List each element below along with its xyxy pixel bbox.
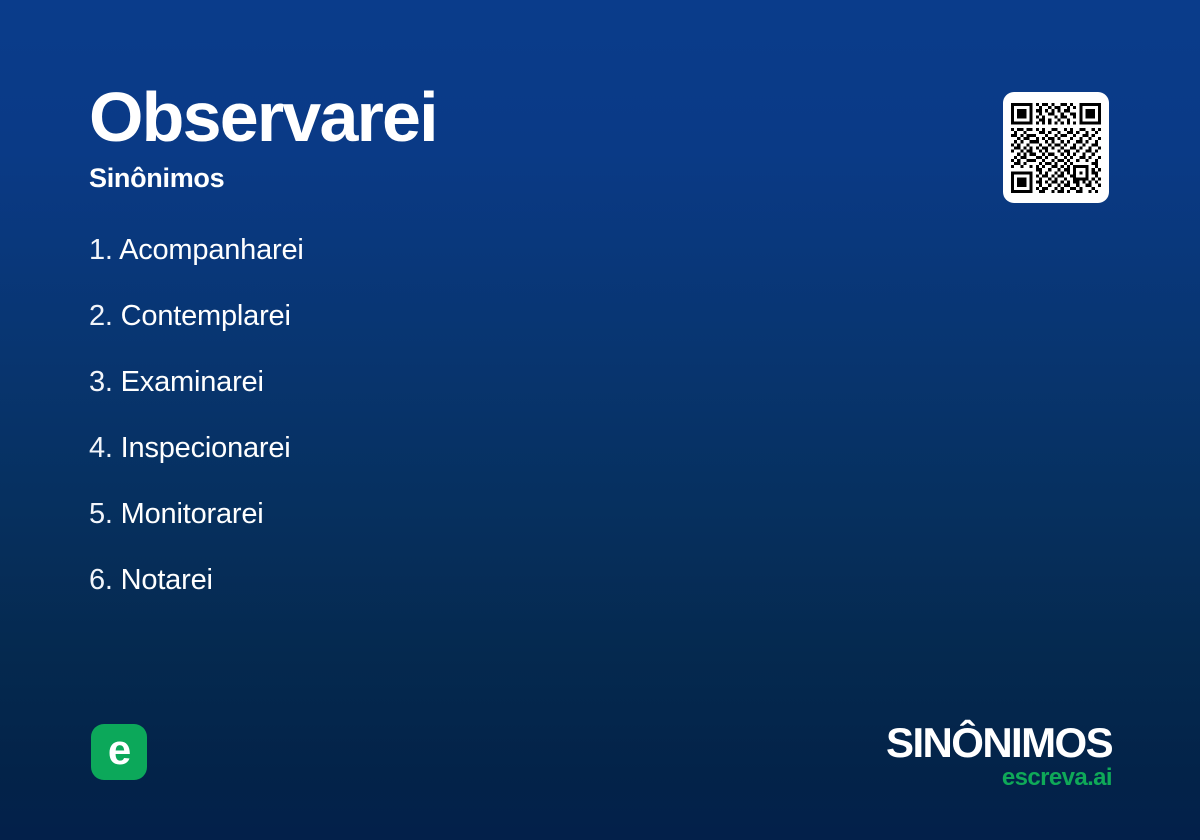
qr-code-panel[interactable] [1003,92,1109,203]
list-item: 2. Contemplarei [89,302,849,331]
list-item: 5. Monitorarei [89,500,849,529]
list-item: 6. Notarei [89,566,849,595]
synonym-card: Observarei Sinônimos [0,0,1200,840]
list-item-word: Monitorarei [121,498,264,530]
list-item: 1. Acompanharei [89,236,849,265]
list-item: 4. Inspecionarei [89,434,849,463]
synonym-list: 1. Acompanharei 2. Contemplarei 3. Exami… [89,236,849,595]
list-item-word: Acompanharei [119,234,304,266]
list-item-word: Notarei [121,564,213,596]
escreva-e-icon: e [91,724,147,780]
brand-logo-secondary: escreva.ai [886,764,1112,790]
title-block: Observarei Sinônimos [89,82,437,192]
list-item-word: Contemplarei [121,300,291,332]
list-item-index: 4. [89,432,113,464]
list-item-index: 6. [89,564,113,596]
brand-logo: SINÔNIMOS escreva.ai [886,722,1112,790]
list-item-word: Examinarei [121,366,264,398]
list-item-index: 5. [89,498,113,530]
list-item: 3. Examinarei [89,368,849,397]
brand-badge-letter: e [108,729,130,771]
list-item-index: 2. [89,300,113,332]
qr-code-icon [1011,103,1101,193]
brand-logo-primary: SINÔNIMOS [886,722,1112,764]
page-subtitle: Sinônimos [89,152,437,192]
list-item-index: 1. [89,234,113,266]
list-item-word: Inspecionarei [121,432,291,464]
list-item-index: 3. [89,366,113,398]
page-title: Observarei [89,82,437,152]
